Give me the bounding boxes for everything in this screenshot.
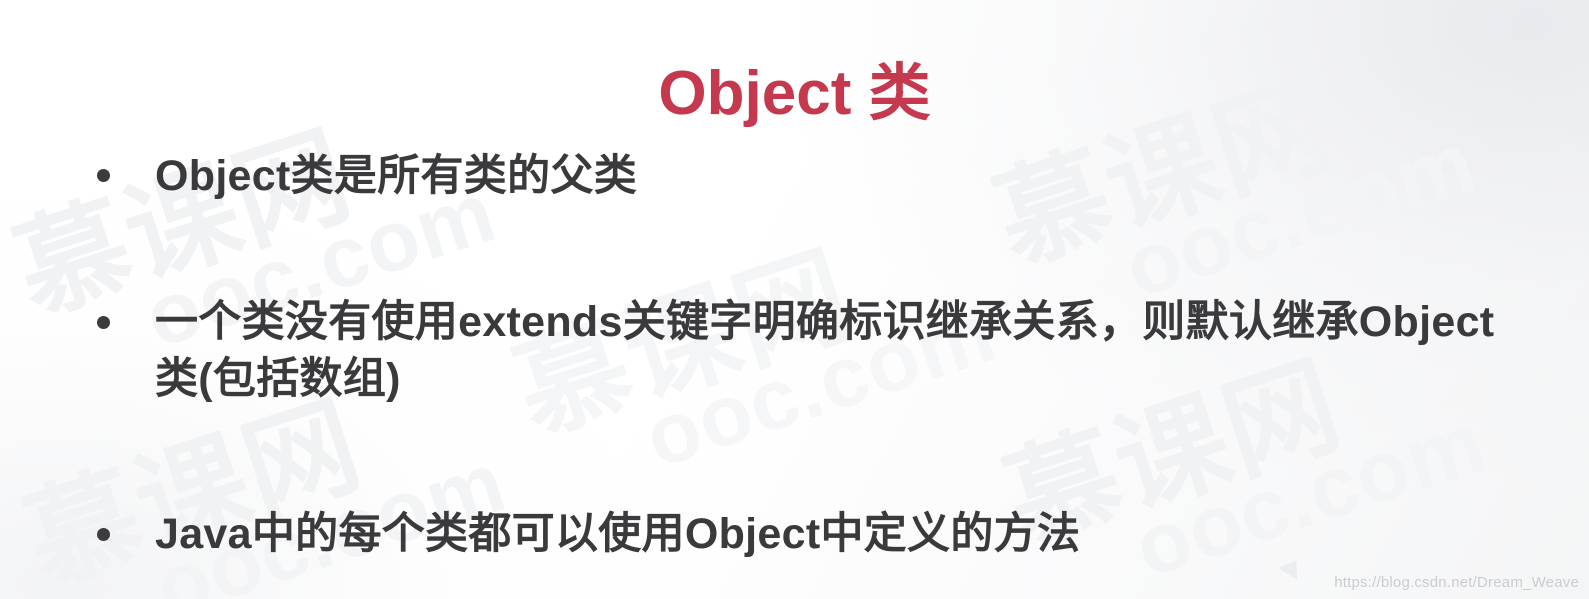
list-item-text: Java中的每个类都可以使用Object中定义的方法: [155, 506, 1530, 563]
presentation-slide: 慕课网 ooc.com 慕课网 ooc.com 慕课网 ooc.com 慕课网 …: [0, 0, 1589, 599]
bullet-dot-icon: [97, 316, 110, 329]
list-item: Java中的每个类都可以使用Object中定义的方法: [0, 506, 1530, 563]
list-item-text: Object类是所有类的父类: [155, 148, 1530, 205]
list-item: 一个类没有使用extends关键字明确标识继承关系，则默认继承Object类(包…: [0, 294, 1530, 408]
slide-content: Object 类 Object类是所有类的父类 一个类没有使用extends关键…: [0, 0, 1589, 599]
list-item: Object类是所有类的父类: [0, 148, 1530, 205]
bullet-dot-icon: [97, 528, 110, 541]
source-url-watermark: https://blog.csdn.net/Dream_Weave: [1334, 574, 1579, 591]
bullet-dot-icon: [97, 169, 110, 182]
list-item-text: 一个类没有使用extends关键字明确标识继承关系，则默认继承Object类(包…: [155, 294, 1530, 408]
page-title: Object 类: [0, 60, 1589, 128]
